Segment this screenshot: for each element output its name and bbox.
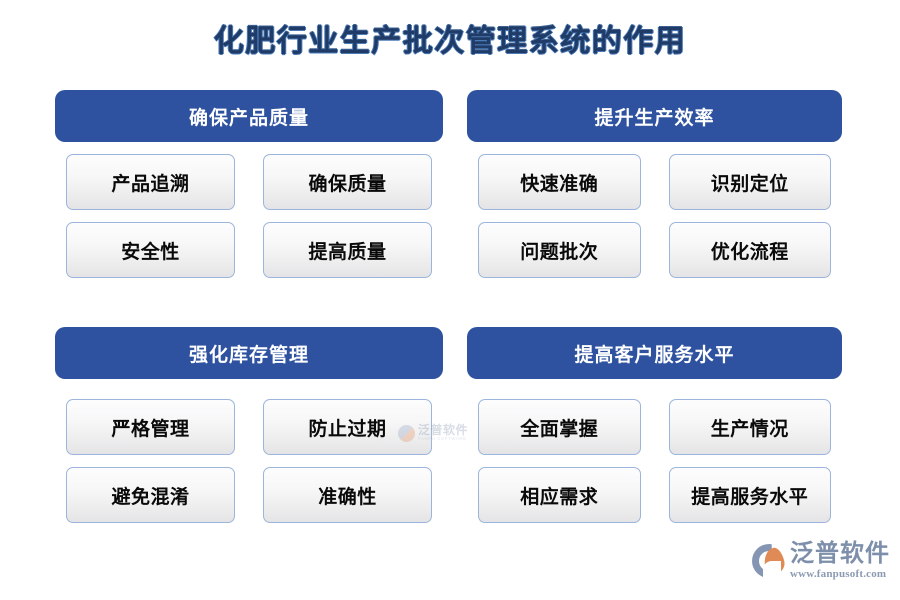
brand-logo: 泛普软件 www.fanpusoft.com: [752, 542, 890, 580]
quadrant-item[interactable]: 提高质量: [263, 222, 432, 278]
quadrant-improve-customer-service: 提高客户服务水平 全面掌握 生产情况 相应需求 提高服务水平: [467, 327, 842, 523]
quadrant-item[interactable]: 产品追溯: [66, 154, 235, 210]
quadrant-improve-production-efficiency: 提升生产效率 快速准确 识别定位 问题批次 优化流程: [467, 90, 842, 278]
quadrant-item[interactable]: 快速准确: [478, 154, 641, 210]
quadrant-item-grid: 产品追溯 确保质量 安全性 提高质量: [55, 154, 443, 278]
quadrant-item[interactable]: 避免混淆: [66, 467, 235, 523]
brand-url[interactable]: www.fanpusoft.com: [790, 569, 890, 580]
quadrant-ensure-product-quality: 确保产品质量 产品追溯 确保质量 安全性 提高质量: [55, 90, 443, 278]
quadrant-item-grid: 严格管理 防止过期 避免混淆 准确性: [55, 399, 443, 523]
quadrant-item[interactable]: 安全性: [66, 222, 235, 278]
brand-name: 泛普软件: [790, 542, 890, 566]
quadrant-item[interactable]: 严格管理: [66, 399, 235, 455]
quadrant-header: 提升生产效率: [467, 90, 842, 142]
quadrant-strengthen-inventory-management: 强化库存管理 严格管理 防止过期 避免混淆 准确性: [55, 327, 443, 523]
infographic-canvas: 化肥行业生产批次管理系统的作用 确保产品质量 产品追溯 确保质量 安全性 提高质…: [0, 0, 900, 600]
fanpu-logo-icon: [752, 544, 786, 578]
quadrant-item-grid: 全面掌握 生产情况 相应需求 提高服务水平: [467, 399, 842, 523]
quadrant-item[interactable]: 防止过期: [263, 399, 432, 455]
quadrant-item[interactable]: 准确性: [263, 467, 432, 523]
quadrant-header: 强化库存管理: [55, 327, 443, 379]
quadrant-item[interactable]: 生产情况: [669, 399, 832, 455]
quadrant-item[interactable]: 提高服务水平: [669, 467, 832, 523]
quadrant-item-grid: 快速准确 识别定位 问题批次 优化流程: [467, 154, 842, 278]
page-title: 化肥行业生产批次管理系统的作用: [0, 16, 900, 60]
quadrant-item[interactable]: 确保质量: [263, 154, 432, 210]
brand-text: 泛普软件 www.fanpusoft.com: [790, 542, 890, 580]
quadrant-item[interactable]: 相应需求: [478, 467, 641, 523]
quadrant-item[interactable]: 全面掌握: [478, 399, 641, 455]
quadrant-header: 确保产品质量: [55, 90, 443, 142]
quadrant-item[interactable]: 问题批次: [478, 222, 641, 278]
quadrant-item[interactable]: 识别定位: [669, 154, 832, 210]
quadrant-header: 提高客户服务水平: [467, 327, 842, 379]
logo-swoosh-cut-shape: [763, 561, 781, 578]
quadrant-item[interactable]: 优化流程: [669, 222, 832, 278]
